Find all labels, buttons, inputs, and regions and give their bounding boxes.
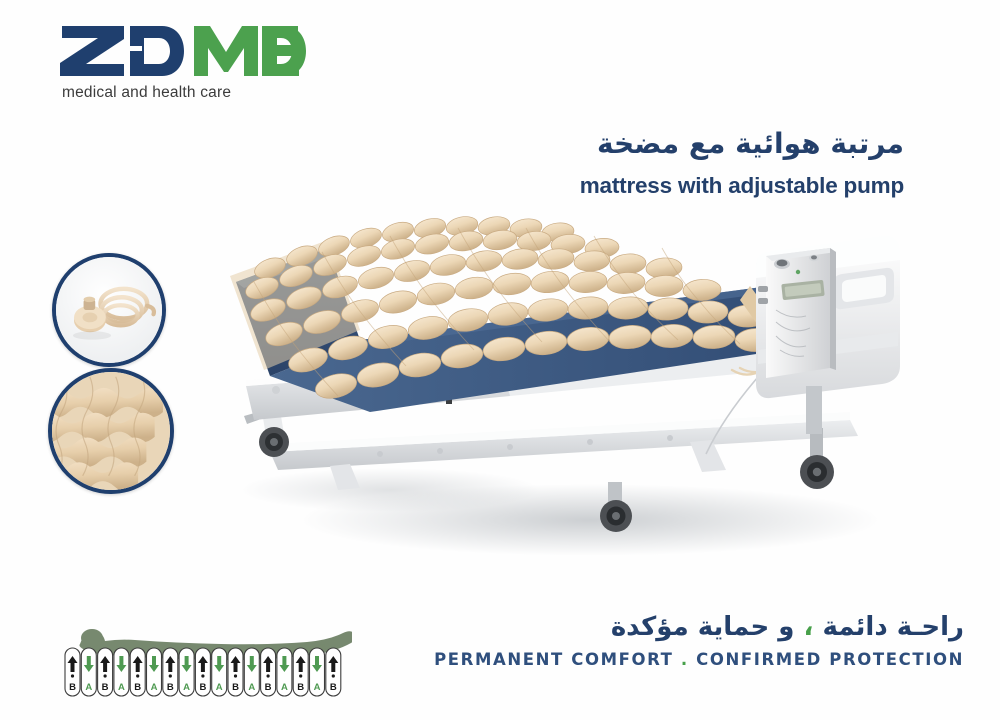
- diagram-cell-label: A: [85, 682, 92, 693]
- arrow-dot-icon: [218, 658, 221, 661]
- alternating-pressure-diagram: BABABABABABABABAB: [62, 608, 352, 700]
- diagram-cell-label: A: [314, 682, 321, 693]
- arrow-dot-icon: [283, 658, 286, 661]
- diagram-illustration: BABABABABABABABAB: [62, 608, 352, 700]
- arrow-dot-icon: [267, 674, 270, 677]
- diagram-cells: BABABABABABABABAB: [65, 648, 341, 696]
- air-hose-inset: [52, 253, 166, 367]
- logo-wordmark: [58, 22, 308, 78]
- diagram-cell-label: B: [167, 682, 174, 693]
- footer-tagline-arabic: راحـة دائمة ، و حماية مؤكدة: [434, 612, 964, 642]
- bed-and-mattress-illustration: [210, 190, 910, 570]
- diagram-cell-label: B: [330, 682, 337, 693]
- arrow-dot-icon: [185, 658, 188, 661]
- footer-en-separator: .: [681, 650, 689, 669]
- diagram-cell-label: B: [232, 682, 239, 693]
- diagram-cell-label: B: [102, 682, 109, 693]
- footer-tagline: راحـة دائمة ، و حماية مؤكدة PERMANENT CO…: [434, 612, 964, 669]
- arrow-dot-icon: [152, 658, 155, 661]
- advertisement-canvas: medical and health care مرتبة هوائية مع …: [0, 0, 1000, 720]
- arrow-dot-icon: [234, 674, 237, 677]
- diagram-cell-label: A: [151, 682, 158, 693]
- diagram-cell-label: A: [183, 682, 190, 693]
- diagram-cell-label: A: [281, 682, 288, 693]
- product-title-block: مرتبة هوائية مع مضخة mattress with adjus…: [580, 126, 904, 199]
- air-hose-illustration: [56, 257, 162, 363]
- pump-unit: [758, 248, 836, 378]
- arrow-dot-icon: [87, 658, 90, 661]
- diagram-cell-label: A: [248, 682, 255, 693]
- arrow-dot-icon: [201, 674, 204, 677]
- diagram-cell-label: A: [118, 682, 125, 693]
- diagram-cell-label: B: [69, 682, 76, 693]
- brand-tagline: medical and health care: [62, 84, 314, 102]
- air-cells-inset: [48, 368, 174, 494]
- arrow-dot-icon: [169, 674, 172, 677]
- footer-ar-separator: ،: [804, 612, 814, 642]
- brand-logo: medical and health care: [58, 22, 318, 114]
- arrow-dot-icon: [120, 658, 123, 661]
- product-photo: [210, 190, 910, 570]
- arrow-dot-icon: [299, 674, 302, 677]
- footer-en-part2: CONFIRMED PROTECTION: [696, 650, 964, 669]
- arrow-dot-icon: [332, 674, 335, 677]
- arrow-dot-icon: [104, 674, 107, 677]
- air-cells-illustration: [52, 372, 170, 490]
- diagram-cell-label: B: [297, 682, 304, 693]
- product-title-arabic: مرتبة هوائية مع مضخة: [580, 126, 904, 161]
- diagram-cell-label: B: [265, 682, 272, 693]
- footer-en-part1: PERMANENT COMFORT: [434, 650, 673, 669]
- diagram-cell-label: B: [134, 682, 141, 693]
- arrow-dot-icon: [71, 674, 74, 677]
- footer-ar-part1: راحـة دائمة: [822, 612, 964, 642]
- footer-tagline-english: PERMANENT COMFORT . CONFIRMED PROTECTION: [434, 650, 964, 669]
- arrow-dot-icon: [315, 658, 318, 661]
- diagram-cell-label: A: [216, 682, 223, 693]
- diagram-cell-label: B: [199, 682, 206, 693]
- arrow-dot-icon: [136, 674, 139, 677]
- arrow-dot-icon: [250, 658, 253, 661]
- footer-ar-part2: و حماية مؤكدة: [611, 612, 795, 642]
